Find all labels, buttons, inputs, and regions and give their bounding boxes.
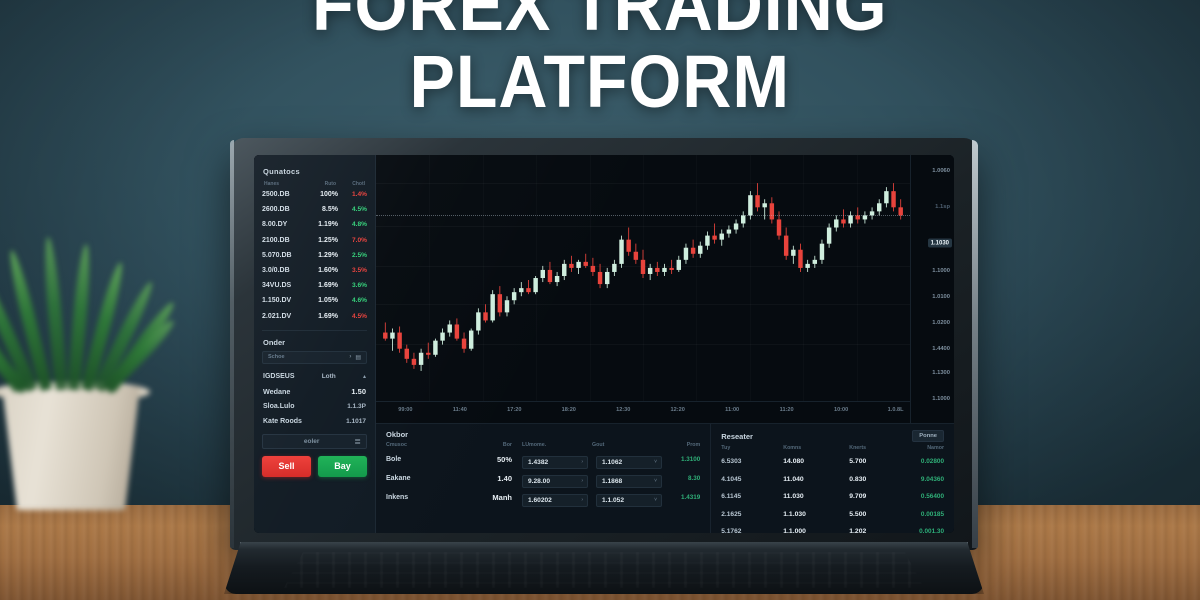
candle-body — [755, 195, 759, 207]
x-axis-tick: 10:00 — [834, 407, 848, 413]
x-axis-tick: 11:00 — [725, 407, 739, 413]
candle-body — [813, 260, 817, 264]
candle-body — [891, 191, 895, 207]
candle-body — [805, 264, 809, 268]
positions-row[interactable]: Bole50%1.4382›1.1062˅1.3100 — [376, 450, 710, 469]
watchlist-symbol: 34VU.DS — [262, 282, 308, 289]
candle-body — [641, 260, 645, 274]
watchlist-row[interactable]: 5.070.DB1.29%2.5% — [254, 248, 375, 263]
order-field-value: 1.1017 — [346, 418, 366, 425]
order-symbol: IGDSEUS — [263, 373, 295, 380]
lid-edge-left — [230, 140, 234, 548]
y-axis-tick: 1.4400 — [932, 346, 950, 352]
candle-body — [727, 230, 731, 234]
candle-body — [619, 240, 623, 264]
history-rows: 6.530314.0805.7000.028004.104511.0400.83… — [711, 453, 954, 533]
history-price: 5.500 — [849, 511, 909, 518]
candle-body — [440, 333, 444, 341]
history-price: 5.700 — [849, 458, 909, 465]
candle-body — [662, 268, 666, 272]
candle-body — [741, 215, 745, 223]
position-profit: 1.3100 — [662, 456, 700, 463]
position-open-price-cell[interactable]: 9.28.00› — [512, 470, 588, 488]
watchlist-symbol: 3.0/0.DB — [262, 267, 308, 274]
positions-row[interactable]: Eakane1.409.28.00›1.1868˅8.30 — [376, 469, 710, 488]
position-profit: 1.4319 — [662, 494, 700, 501]
candle-body — [777, 219, 781, 235]
stepper-icon[interactable]: ˅ — [654, 459, 657, 465]
watchlist-symbol: 2600.DB — [262, 206, 308, 213]
candle-body — [898, 207, 902, 215]
order-action-buttons: Sell Bay — [254, 449, 375, 485]
watchlist-value: 1.19% — [311, 221, 338, 228]
history-volume: 1.1.000 — [783, 528, 849, 533]
watchlist-row[interactable]: 2600.DB8.5%4.5% — [254, 202, 375, 217]
position-open-price: 1.4382 — [528, 459, 548, 466]
watchlist-change: 4.6% — [341, 297, 367, 304]
candlestick-chart[interactable]: 99:0011:4017:2018:2012:3012:2011:0011:20… — [376, 155, 910, 423]
candle-body — [691, 248, 695, 254]
watchlist-change: 3.6% — [341, 282, 367, 289]
y-axis-tick: 1.1000 — [932, 396, 950, 402]
candle-body — [426, 353, 430, 355]
watchlist-value: 1.69% — [311, 313, 338, 320]
candle-body — [584, 262, 588, 266]
candle-body — [720, 234, 724, 240]
positions-panel: Okbor Cmusoc Bor LUmome. Gout Prom Bole5… — [376, 424, 711, 533]
x-axis-tick: 11:20 — [780, 407, 794, 413]
watchlist-symbol: 2100.DB — [262, 237, 308, 244]
candle-body — [419, 353, 423, 365]
history-header-bar: Reseater Ponne — [711, 424, 954, 445]
order-mode-selector[interactable]: Schoe › ▤ — [262, 351, 367, 364]
candle-body — [383, 333, 387, 339]
candle-body — [612, 264, 616, 272]
y-axis-tick: 1.1000 — [932, 268, 950, 274]
history-panel: Reseater Ponne Tuy Komns Knerts Namor 6.… — [711, 424, 954, 533]
watchlist-value: 1.05% — [311, 297, 338, 304]
history-row[interactable]: 6.530314.0805.7000.02800 — [711, 453, 954, 471]
history-th-2: Komns — [783, 445, 849, 451]
order-symbol-unit: Loth — [322, 373, 336, 380]
positions-th-3: LUmome. — [512, 442, 584, 448]
watchlist-change: 1.4% — [341, 191, 367, 198]
positions-rows: Bole50%1.4382›1.1062˅1.3100Eakane1.409.2… — [376, 450, 710, 507]
history-amount: 0.00185 — [909, 511, 944, 518]
watchlist-row[interactable]: 8.00.DY1.19%4.8% — [254, 217, 375, 232]
history-time: 2.1625 — [721, 511, 783, 518]
history-price: 1.202 — [849, 528, 909, 533]
watchlist-change: 4.8% — [341, 221, 367, 228]
x-axis-tick: 11:40 — [453, 407, 467, 413]
candle-body — [512, 292, 516, 300]
trading-app: Qunatocs Hanes Ruto Chotl 2500.DB100%1.4… — [254, 155, 954, 533]
x-axis-tick: 17:20 — [507, 407, 521, 413]
candle-body — [655, 268, 659, 272]
candle-body — [698, 246, 702, 254]
order-field-row[interactable]: Wedane1.50 — [254, 384, 375, 399]
order-mode-label: Schoe — [268, 354, 345, 360]
watchlist-symbol: 2500.DB — [262, 191, 308, 198]
candle-body — [483, 312, 487, 320]
potted-plant — [0, 210, 168, 510]
history-time: 4.1045 — [721, 476, 783, 483]
watchlist-change: 7.0% — [341, 237, 367, 244]
watchlist-row[interactable]: 2.021.DV1.69%4.5% — [254, 309, 375, 324]
x-axis-tick: 99:00 — [398, 407, 412, 413]
watchlist-value: 8.5% — [311, 206, 338, 213]
candle-body — [734, 223, 738, 229]
watchlist-value: 1.60% — [311, 267, 338, 274]
history-time: 6.5303 — [721, 458, 783, 465]
y-axis-tick: 1.0100 — [932, 294, 950, 300]
position-instrument: Inkens — [386, 494, 454, 501]
history-action-button[interactable]: Ponne — [912, 430, 944, 442]
y-axis-tick: 1.1sp — [935, 204, 950, 210]
candle-body — [677, 260, 681, 270]
positions-header-row: Cmusoc Bor LUmome. Gout Prom — [376, 442, 710, 450]
candle-body — [519, 288, 523, 292]
x-axis-tick: 18:20 — [562, 407, 576, 413]
watchlist-symbol: 8.00.DY — [262, 221, 308, 228]
watchlist-symbol: 1.150.DV — [262, 297, 308, 304]
order-field-rows: Wedane1.50Sloa.Lulo1.1.3PKate Roods1.101… — [254, 384, 375, 429]
history-th-4: Namor — [909, 445, 944, 451]
candle-body — [541, 270, 545, 278]
main-area: 99:0011:4017:2018:2012:3012:2011:0011:20… — [376, 155, 954, 533]
history-amount: 0.56400 — [909, 493, 944, 500]
candle-body — [791, 250, 795, 256]
history-volume: 11.040 — [783, 476, 849, 483]
watchlist-rows: 2500.DB100%1.4%2600.DB8.5%4.5%8.00.DY1.1… — [254, 187, 375, 324]
position-size: 1.40 — [454, 474, 512, 483]
current-price-label: 1.1030 — [928, 239, 952, 248]
order-field-label: Wedane — [263, 387, 290, 396]
plant-pot — [0, 386, 146, 510]
photo-scene: Qunatocs Hanes Ruto Chotl 2500.DB100%1.4… — [0, 0, 1200, 600]
caret-up-icon[interactable]: ▴ — [363, 373, 366, 380]
stepper-icon[interactable]: ˅ — [654, 478, 657, 484]
position-open-price-cell[interactable]: 1.60202› — [512, 489, 588, 507]
chart-panel: 99:0011:4017:2018:2012:3012:2011:0011:20… — [376, 155, 954, 423]
watchlist-change: 4.5% — [341, 313, 367, 320]
positions-th-4: Gout — [584, 442, 656, 448]
position-current-price: 1.1.052 — [602, 497, 624, 504]
candle-body — [770, 203, 774, 219]
candle-body — [626, 240, 630, 252]
y-axis-tick: 1.1300 — [932, 370, 950, 376]
candle-body — [505, 300, 509, 312]
position-current-price-cell[interactable]: 1.1062˅ — [588, 451, 662, 469]
candle-body — [798, 250, 802, 268]
candle-body — [526, 288, 530, 292]
candle-body — [762, 203, 766, 207]
candle-body — [605, 272, 609, 284]
position-instrument: Eakane — [386, 475, 454, 482]
history-time: 5.1762 — [721, 528, 783, 533]
history-th-3: Knerts — [849, 445, 909, 451]
watchlist-value: 1.69% — [311, 282, 338, 289]
watchlist-change: 2.5% — [341, 252, 367, 259]
candle-body — [877, 203, 881, 211]
watchlist-row[interactable]: 1.150.DV1.05%4.6% — [254, 293, 375, 308]
candle-body — [591, 266, 595, 272]
watchlist-row[interactable]: 3.0/0.DB1.60%3.5% — [254, 263, 375, 278]
watchlist-title: Qunatocs — [254, 161, 375, 181]
candle-body — [705, 236, 709, 246]
candle-body — [412, 359, 416, 365]
positions-title: Okbor — [386, 430, 408, 439]
position-current-price: 1.1868 — [602, 478, 622, 485]
history-price: 9.709 — [849, 493, 909, 500]
watchlist-symbol: 5.070.DB — [262, 252, 308, 259]
history-amount: 0.02800 — [909, 458, 944, 465]
quantity-input[interactable]: eoler ≣ — [262, 434, 367, 449]
candle-body — [784, 236, 788, 256]
candle-body — [433, 341, 437, 355]
candle-body — [576, 262, 580, 268]
candle-body — [476, 312, 480, 330]
history-th-1: Tuy — [721, 445, 783, 451]
candle-body — [598, 272, 602, 284]
sidebar: Qunatocs Hanes Ruto Chotl 2500.DB100%1.4… — [254, 155, 376, 533]
candle-body — [884, 191, 888, 203]
chart-y-axis[interactable]: 1.00601.1sp1.10301.10001.01001.02001.440… — [910, 155, 954, 423]
bottom-tables: Okbor Cmusoc Bor LUmome. Gout Prom Bole5… — [376, 423, 954, 533]
candle-body — [669, 268, 673, 270]
history-volume: 1.1.030 — [783, 511, 849, 518]
watchlist-row[interactable]: 34VU.DS1.69%3.6% — [254, 278, 375, 293]
stepper-icon[interactable]: ˅ — [654, 497, 657, 503]
candle-body — [405, 349, 409, 359]
candle-body — [498, 294, 502, 312]
candle-body — [748, 195, 752, 215]
watchlist-symbol: 2.021.DV — [262, 313, 308, 320]
candle-body — [712, 236, 716, 240]
candle-body — [548, 270, 552, 282]
position-open-price-cell[interactable]: 1.4382› — [512, 451, 588, 469]
history-row[interactable]: 4.104511.0400.8309.04360 — [711, 471, 954, 489]
candle-body — [820, 244, 824, 260]
watchlist-change: 4.5% — [341, 206, 367, 213]
candle-body — [834, 219, 838, 227]
position-profit: 8.30 — [662, 475, 700, 482]
candle-body — [555, 276, 559, 282]
lid-edge-right — [972, 140, 978, 548]
history-title: Reseater — [721, 432, 753, 441]
order-panel-title: Onder — [254, 331, 375, 351]
history-header-row: Tuy Komns Knerts Namor — [711, 445, 954, 453]
x-axis-tick: 12:20 — [671, 407, 685, 413]
candle-body — [684, 248, 688, 260]
candle-body — [634, 252, 638, 260]
candle-body — [848, 215, 852, 223]
position-instrument: Bole — [386, 456, 454, 463]
position-current-price-cell[interactable]: 1.1868˅ — [588, 470, 662, 488]
order-field-label: Sloa.Lulo — [263, 403, 295, 410]
positions-header-bar: Okbor — [376, 424, 710, 442]
x-axis-tick: 12:30 — [616, 407, 630, 413]
order-field-value: 1.50 — [351, 387, 366, 396]
y-axis-tick: 1.0200 — [932, 320, 950, 326]
history-time: 6.1145 — [721, 493, 783, 500]
history-amount: 0.001.30 — [909, 528, 944, 533]
history-row[interactable]: 5.17621.1.0001.2020.001.30 — [711, 523, 954, 533]
laptop-screen: Qunatocs Hanes Ruto Chotl 2500.DB100%1.4… — [254, 155, 954, 533]
candle-body — [397, 333, 401, 349]
menu-icon[interactable]: ≣ — [354, 437, 360, 446]
history-row[interactable]: 6.114511.0309.7090.56400 — [711, 488, 954, 506]
history-volume: 14.080 — [783, 458, 849, 465]
y-axis-tick: 1.0060 — [932, 168, 950, 174]
order-field-label: Kate Roods — [263, 418, 302, 425]
stepper-icon[interactable]: › — [581, 497, 583, 503]
candle-body — [569, 264, 573, 268]
position-open-price: 9.28.00 — [528, 478, 550, 485]
candle-body — [648, 268, 652, 274]
history-amount: 9.04360 — [909, 476, 944, 483]
watchlist-change: 3.5% — [341, 267, 367, 274]
watchlist-row[interactable]: 2500.DB100%1.4% — [254, 187, 375, 202]
list-icon[interactable]: ▤ — [355, 354, 361, 361]
history-volume: 11.030 — [783, 493, 849, 500]
positions-th-5: Prom — [656, 442, 700, 448]
buy-button[interactable]: Bay — [318, 456, 367, 477]
position-current-price: 1.1062 — [602, 459, 622, 466]
candle-body — [390, 333, 394, 339]
candle-body — [455, 324, 459, 338]
chevron-icon[interactable]: › — [349, 354, 351, 360]
positions-th-1: Cmusoc — [386, 442, 454, 448]
order-field-row[interactable]: Sloa.Lulo1.1.3P — [254, 399, 375, 414]
order-symbol-row[interactable]: IGDSEUS Loth ▴ — [254, 369, 375, 384]
watchlist-value: 100% — [311, 191, 338, 198]
laptop: Qunatocs Hanes Ruto Chotl 2500.DB100%1.4… — [224, 138, 984, 600]
x-axis-tick: 1.0.8L — [888, 407, 904, 413]
current-price-line — [376, 215, 910, 216]
candle-body — [462, 339, 466, 349]
history-price: 0.830 — [849, 476, 909, 483]
quantity-value: eoler — [269, 438, 354, 445]
watchlist-value: 1.29% — [311, 252, 338, 259]
candle-body — [562, 264, 566, 276]
candle-body — [448, 324, 452, 332]
laptop-keyboard — [284, 552, 924, 588]
candle-body — [841, 219, 845, 223]
candle-body — [533, 278, 537, 292]
candle-body — [490, 294, 494, 320]
sell-button[interactable]: Sell — [262, 456, 311, 477]
history-row[interactable]: 2.16251.1.0305.5000.00185 — [711, 506, 954, 524]
candles-svg — [376, 155, 910, 391]
chart-x-axis: 99:0011:4017:2018:2012:3012:2011:0011:20… — [376, 401, 910, 423]
position-size: 50% — [454, 455, 512, 464]
candle-body — [827, 228, 831, 244]
stepper-icon[interactable]: › — [581, 459, 583, 465]
order-field-value: 1.1.3P — [347, 403, 366, 410]
position-open-price: 1.60202 — [528, 497, 552, 504]
position-current-price-cell[interactable]: 1.1.052˅ — [588, 489, 662, 507]
positions-row[interactable]: InkensManh1.60202›1.1.052˅1.4319 — [376, 488, 710, 507]
candle-body — [469, 331, 473, 349]
watchlist-value: 1.25% — [311, 237, 338, 244]
positions-th-2: Bor — [454, 442, 512, 448]
order-field-row[interactable]: Kate Roods1.1017 — [254, 414, 375, 429]
watchlist-row[interactable]: 2100.DB1.25%7.0% — [254, 233, 375, 248]
position-size: Manh — [454, 493, 512, 502]
stepper-icon[interactable]: › — [581, 478, 583, 484]
